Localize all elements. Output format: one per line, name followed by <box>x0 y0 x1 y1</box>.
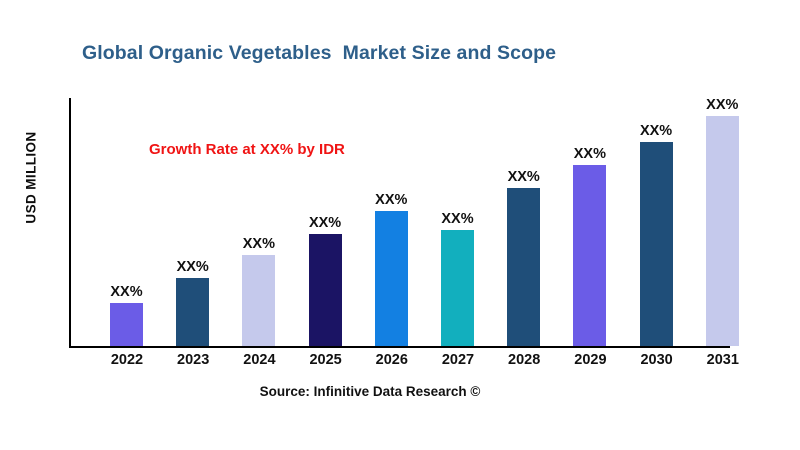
x-tick-label-2026: 2026 <box>357 352 427 368</box>
bar-value-label-2023: XX% <box>163 259 222 275</box>
page-title: Global Organic Vegetables Market Size an… <box>82 40 742 66</box>
growth-rate-annotation: Growth Rate at XX% by IDR <box>149 141 345 158</box>
bar-group: XX% <box>242 229 275 346</box>
bar-value-label-2025: XX% <box>296 215 355 231</box>
bar-value-label-2030: XX% <box>627 123 686 139</box>
x-tick-label-2022: 2022 <box>92 352 162 368</box>
bar-2030[interactable] <box>640 142 673 346</box>
bar-group: XX% <box>507 162 540 346</box>
bar-group: XX% <box>309 208 342 346</box>
bar-2026[interactable] <box>375 211 408 346</box>
bar-value-label-2028: XX% <box>494 169 553 185</box>
y-axis-label-container: USD MILLION <box>16 104 46 264</box>
bar-value-label-2024: XX% <box>229 236 288 252</box>
x-tick-label-2025: 2025 <box>291 352 361 368</box>
bar-group: XX% <box>706 90 739 346</box>
bar-group: XX% <box>110 277 143 346</box>
x-tick-label-2031: 2031 <box>688 352 758 368</box>
bar-2024[interactable] <box>242 255 275 346</box>
bar-2025[interactable] <box>309 234 342 346</box>
bar-value-label-2027: XX% <box>428 211 487 227</box>
bar-group: XX% <box>640 116 673 346</box>
bar-value-label-2026: XX% <box>362 192 421 208</box>
x-tick-label-2024: 2024 <box>224 352 294 368</box>
y-axis-label: USD MILLION <box>24 104 39 252</box>
x-tick-label-2023: 2023 <box>158 352 228 368</box>
x-tick-label-2030: 2030 <box>622 352 692 368</box>
x-axis-tick-labels: 2022202320242025202620272028202920302031 <box>69 352 789 378</box>
x-tick-label-2028: 2028 <box>489 352 559 368</box>
bar-2028[interactable] <box>507 188 540 346</box>
x-tick-label-2027: 2027 <box>423 352 493 368</box>
bar-2022[interactable] <box>110 303 143 346</box>
bar-2027[interactable] <box>441 230 474 346</box>
source-note: Source: Infinitive Data Research © <box>0 384 740 399</box>
bar-2023[interactable] <box>176 278 209 346</box>
bar-group: XX% <box>375 185 408 346</box>
bar-value-label-2022: XX% <box>97 284 156 300</box>
x-tick-label-2029: 2029 <box>555 352 625 368</box>
bar-value-label-2029: XX% <box>560 146 619 162</box>
bars-layer: XX%XX%XX%XX%XX%XX%XX%XX%XX%XX% <box>69 98 789 348</box>
bar-group: XX% <box>441 204 474 346</box>
bar-2031[interactable] <box>706 116 739 346</box>
bar-group: XX% <box>573 139 606 346</box>
bar-chart-figure: Global Organic Vegetables Market Size an… <box>0 0 800 450</box>
bar-group: XX% <box>176 252 209 346</box>
bar-value-label-2031: XX% <box>693 97 752 113</box>
bar-2029[interactable] <box>573 165 606 346</box>
